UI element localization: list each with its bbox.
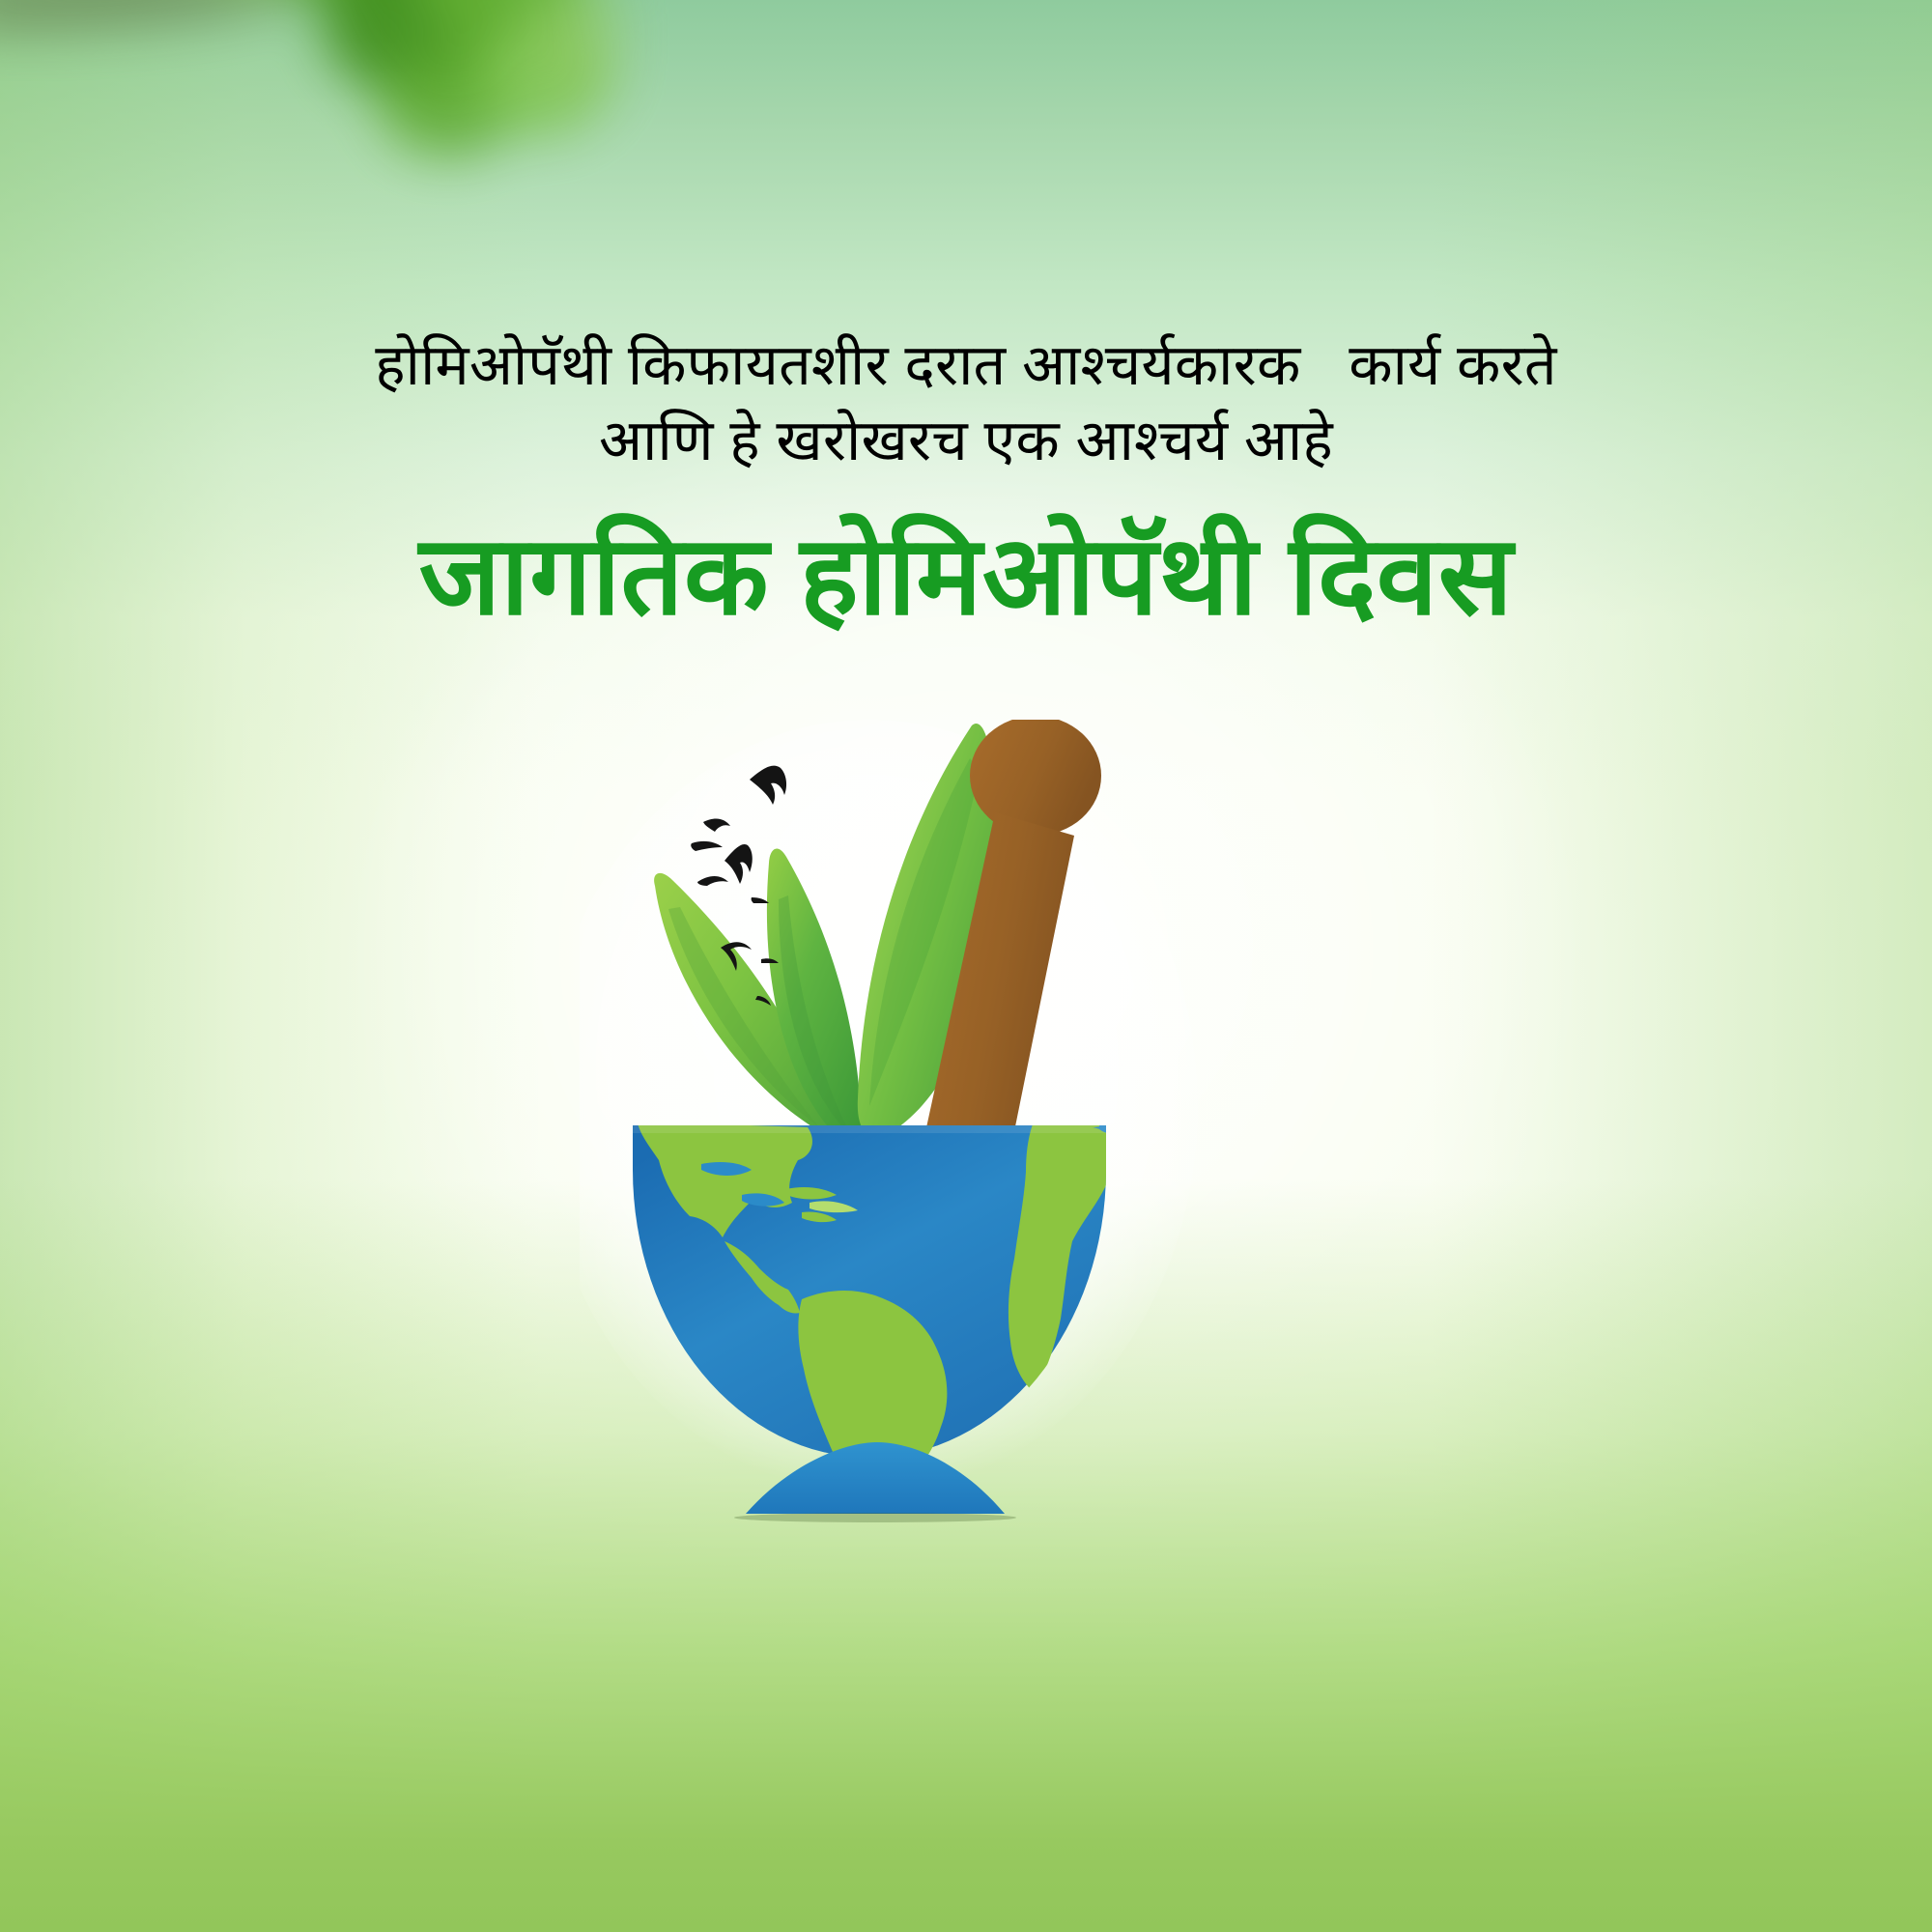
poster-canvas: होमिओपॅथी किफायतशीर दरात आश्चर्यकारक कार…	[0, 0, 1932, 1932]
blurred-foliage-decoration	[0, 0, 618, 290]
mortar-and-pestle-globe-illustration	[580, 720, 1352, 1589]
globe-rim-highlight	[633, 1125, 1106, 1133]
subtitle-line-1: होमिओपॅथी किफायतशीर दरात आश्चर्यकारक कार…	[0, 328, 1932, 404]
illustration-shadow	[734, 1513, 1016, 1522]
subtitle-line-2: आणि हे खरोखरच एक आश्चर्य आहे	[0, 404, 1932, 479]
text-block: होमिओपॅथी किफायतशीर दरात आश्चर्यकारक कार…	[0, 328, 1932, 641]
pestle-head	[970, 720, 1101, 836]
headline-title: जागतिक होमिओपॅथी दिवस	[0, 512, 1932, 642]
